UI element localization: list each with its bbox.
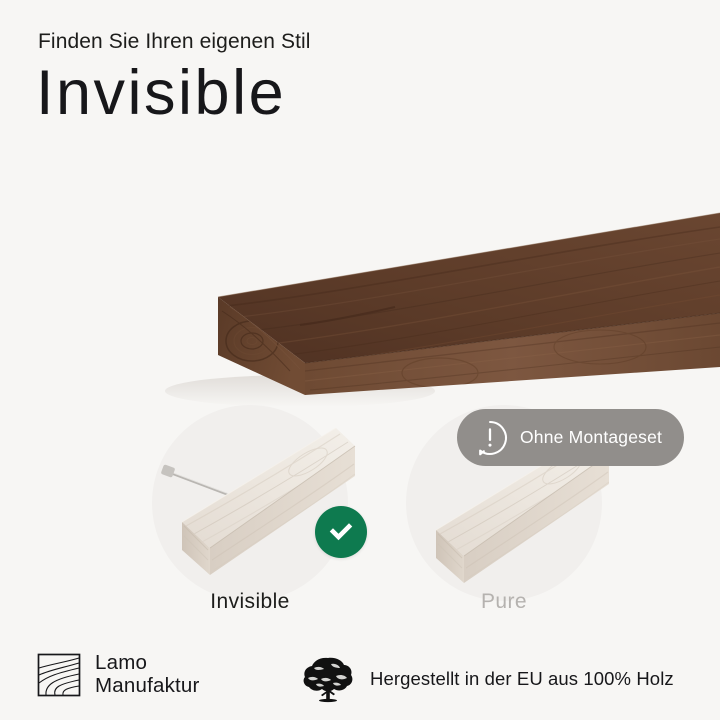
- selected-check-badge: [315, 506, 367, 558]
- brand-logo: Lamo Manufaktur: [36, 652, 200, 698]
- status-badge: Ohne Montageset: [457, 409, 684, 466]
- brand-name-line2: Manufaktur: [95, 675, 200, 698]
- header-subtitle: Finden Sie Ihren eigenen Stil: [38, 30, 311, 54]
- invisible-sample-illustration: [140, 400, 380, 600]
- eu-origin-text: Hergestellt in der EU aus 100% Holz: [370, 668, 674, 690]
- hero-shelf-illustration: [0, 195, 720, 425]
- page-title: Invisible: [36, 62, 286, 125]
- product-image: Finden Sie Ihren eigenen Stil Invisible: [0, 0, 720, 720]
- option-pure-label: Pure: [406, 590, 602, 614]
- tree-icon: [300, 654, 356, 704]
- eu-origin-note: Hergestellt in der EU aus 100% Holz: [300, 654, 674, 704]
- wood-grain-square-icon: [36, 652, 82, 698]
- footer: Lamo Manufaktur: [0, 640, 720, 720]
- check-icon: [326, 517, 356, 547]
- option-invisible-label: Invisible: [152, 590, 348, 614]
- hero-shelf: [0, 195, 720, 425]
- exclamation-bubble-icon: [471, 419, 509, 457]
- brand-name-line1: Lamo: [95, 652, 200, 675]
- status-badge-label: Ohne Montageset: [520, 427, 662, 448]
